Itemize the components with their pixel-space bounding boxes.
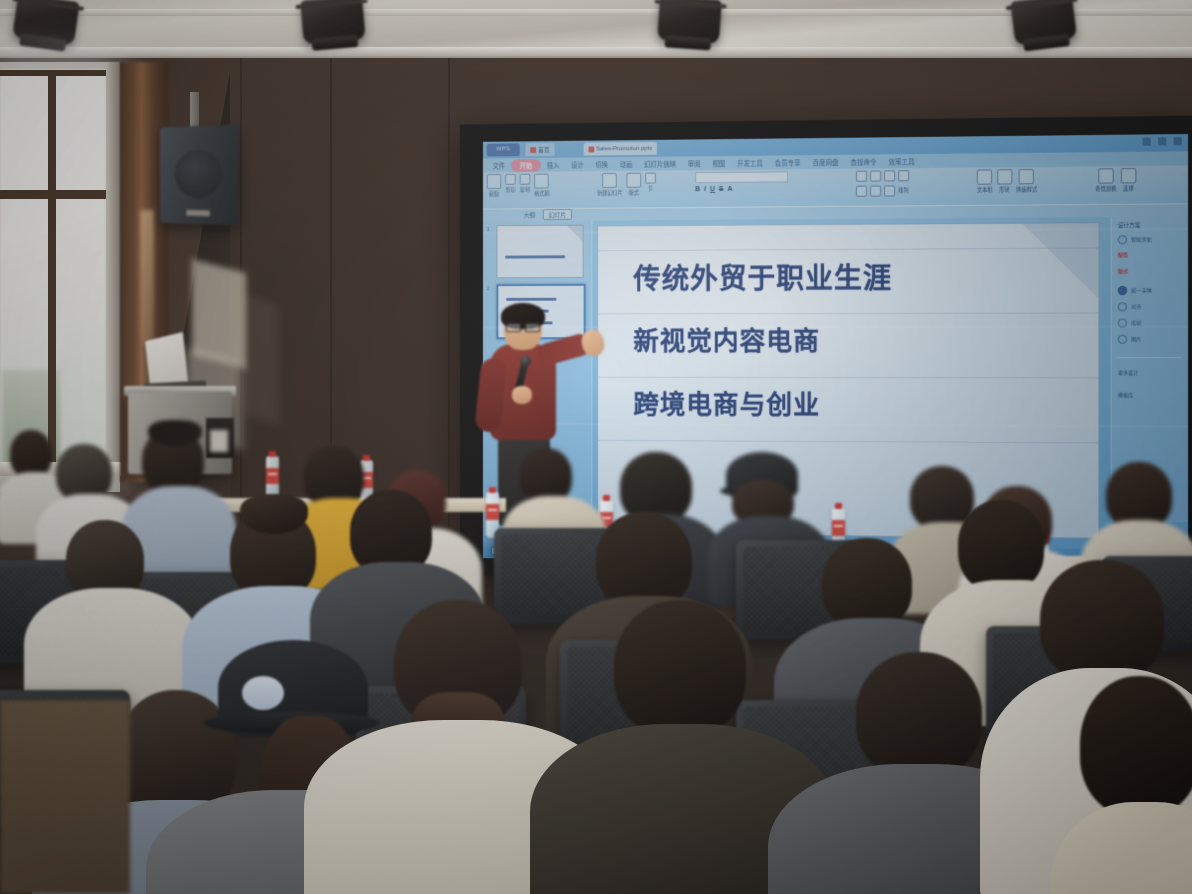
line-spacing-icon[interactable] [898, 170, 909, 181]
textbox-icon [977, 169, 992, 184]
wps-logo: WPS [487, 143, 520, 156]
thumbnail-number: 2 [487, 286, 490, 292]
slide-text-line-3[interactable]: 跨境电商与创业 [633, 385, 820, 422]
ribbon-tab-animation[interactable]: 动画 [614, 158, 638, 170]
slides-tab[interactable]: 幻灯片 [543, 209, 572, 220]
hair-bun [240, 494, 308, 534]
paste-icon [487, 174, 501, 189]
head [1080, 676, 1192, 816]
bold-button[interactable]: B [695, 186, 700, 193]
ribbon-tab-view[interactable]: 视图 [706, 157, 731, 169]
glasses-icon [506, 323, 540, 330]
ribbon-tab-slideshow[interactable]: 幻灯片放映 [638, 157, 682, 169]
scissors-icon [505, 174, 516, 185]
thumbnail-text-line [506, 298, 556, 301]
layout-icon [626, 173, 641, 188]
bullet-list-icon[interactable] [856, 186, 867, 197]
task-pane-label: 模板库 [1118, 392, 1133, 399]
speaker-cone [175, 150, 222, 199]
wps-tab-home[interactable]: 首页 [525, 143, 554, 156]
number-list-icon[interactable] [870, 186, 881, 197]
ceiling-rail [0, 47, 1192, 56]
slide-guide-line [598, 312, 1098, 314]
home-icon [530, 147, 536, 153]
ribbon-tab-review[interactable]: 审阅 [682, 157, 707, 169]
ribbon-button-label: 新建幻灯片 [597, 190, 622, 197]
task-pane-label: 图片 [1131, 336, 1141, 343]
ribbon-toolbar: 粘贴 剪切 复制 格式刷 [483, 166, 1188, 210]
task-pane-row[interactable]: 图片 [1118, 335, 1142, 344]
task-pane-label: 配色 [1118, 251, 1128, 258]
select-icon [1121, 168, 1136, 183]
wps-tab-label: 首页 [538, 145, 550, 154]
align-right-icon[interactable] [884, 170, 895, 181]
wps-tab-document[interactable]: Sales-Promotion.pptx [584, 142, 658, 156]
task-pane-label: 统一字体 [1131, 287, 1152, 294]
ribbon-tab-netdisk[interactable]: 百度网盘 [807, 156, 845, 168]
ribbon-button-label: 排列 [898, 187, 908, 194]
minimize-icon[interactable] [1143, 137, 1151, 145]
ribbon-tab-start[interactable]: 开始 [511, 158, 541, 171]
wps-tab-label: Sales-Promotion.pptx [596, 145, 652, 152]
indent-icon[interactable] [884, 185, 895, 196]
font-color-button[interactable]: A [727, 186, 732, 193]
task-pane-row[interactable]: 版式 [1118, 268, 1128, 275]
ribbon-tab-efficiency[interactable]: 效率工具 [883, 155, 921, 167]
task-pane-label: 版式 [1118, 268, 1128, 275]
font-format-row: B I U S A [695, 186, 732, 193]
ceiling-speaker-icon [160, 125, 238, 226]
ribbon-button-label: 选择 [1123, 185, 1134, 192]
hair-scrunchie [242, 676, 284, 710]
ribbon-button-label: 节 [648, 186, 653, 193]
ribbon-button-find-replace[interactable]: 查找替换 [1095, 168, 1116, 193]
section-icon [645, 173, 656, 184]
quick-style-icon [1019, 169, 1034, 184]
task-pane-row[interactable]: 智能美化 [1118, 235, 1152, 244]
ribbon-tab-design[interactable]: 设计 [565, 158, 589, 170]
ppt-file-icon [588, 146, 594, 152]
align-left-icon[interactable] [856, 171, 867, 182]
shape-icon [997, 169, 1012, 184]
task-pane-label: 智能美化 [1131, 236, 1152, 243]
ribbon-button-layout[interactable]: 版式 [626, 173, 641, 197]
sunlight-patch [244, 294, 278, 425]
head [822, 538, 912, 630]
ribbon-button-section[interactable]: 节 [645, 173, 656, 193]
floor [0, 700, 130, 894]
ribbon-button-label: 粘贴 [489, 191, 499, 198]
ribbon-tab-transition[interactable]: 切换 [589, 158, 613, 170]
strikethrough-button[interactable]: S [719, 186, 724, 193]
ribbon-button-label: 版式 [629, 190, 639, 197]
slide-text-line-1[interactable]: 传统外贸于职业生涯 [633, 257, 892, 298]
ribbon-button-select[interactable]: 选择 [1121, 168, 1136, 193]
slide-guide-line [598, 377, 1098, 379]
ribbon-button-format-painter[interactable]: 格式刷 [534, 174, 549, 198]
window-frame [106, 62, 120, 476]
ribbon-button-label: 格式刷 [534, 190, 549, 197]
ribbon-tab-file[interactable]: 文件 [487, 159, 511, 171]
lecture-hall-photo: WPS 首页 Sales-Promotion.pptx [0, 0, 1192, 894]
head [856, 652, 982, 778]
ribbon-button-textbox[interactable]: 文本框 [977, 169, 993, 193]
presenter-mic-hand [512, 386, 532, 404]
align-icon [1118, 302, 1127, 311]
picture-pane-icon [1118, 335, 1127, 344]
task-pane-label: 更多设计 [1118, 369, 1139, 376]
ribbon-button-label: 形状 [999, 186, 1010, 193]
ribbon-button-paste[interactable]: 粘贴 [487, 174, 501, 198]
ribbon-button-shape[interactable]: 形状 [997, 169, 1012, 193]
ribbon-button-label: 剪切 [505, 187, 515, 194]
ceiling-spotlight-icon [12, 0, 80, 46]
slide-corner-decoration [1023, 223, 1099, 298]
font-name-combobox[interactable] [695, 171, 788, 183]
window-mullion [48, 70, 56, 470]
ribbon-button-label: 复制 [520, 187, 530, 194]
ribbon-tab-developer[interactable]: 开发工具 [731, 157, 769, 169]
task-pane-row[interactable]: 统一字体 [1118, 286, 1152, 295]
close-icon[interactable] [1174, 137, 1182, 145]
ribbon-button-copy[interactable]: 复制 [520, 174, 531, 194]
torso [1050, 802, 1192, 894]
italic-button[interactable]: I [704, 186, 706, 193]
head [614, 600, 746, 736]
ribbon-tab-find-command[interactable]: 查找命令 [844, 155, 882, 167]
ribbon-tab-member[interactable]: 会员专享 [769, 156, 807, 168]
format-painter-icon [534, 174, 549, 189]
wps-logo-label: WPS [487, 143, 520, 156]
hair-bun [148, 420, 202, 446]
new-slide-icon [603, 173, 618, 188]
maximize-icon[interactable] [1158, 137, 1166, 145]
ribbon-button-cut[interactable]: 剪切 [505, 174, 516, 194]
copy-icon [520, 174, 531, 185]
ceiling-spotlight-icon [657, 0, 722, 44]
thumbnail-text-line [505, 255, 565, 258]
task-pane-label: 对齐 [1131, 303, 1141, 310]
slide-guide-line [598, 440, 1098, 443]
ribbon-button-label: 快速样式 [1016, 186, 1037, 193]
ribbon-button-label: 查找替换 [1095, 186, 1116, 193]
audience-member [560, 600, 800, 894]
task-pane-row[interactable]: 模板库 [1118, 392, 1133, 399]
wall-seam [448, 58, 450, 528]
smart-beautify-icon [1118, 235, 1127, 244]
outline-tab[interactable]: 大纲 [523, 210, 535, 219]
window-mullion [0, 70, 106, 76]
unify-font-icon [1118, 286, 1127, 295]
window-controls [1143, 137, 1182, 146]
underline-button[interactable]: U [710, 186, 715, 193]
speaker-badge [186, 210, 209, 217]
task-pane-row[interactable]: 配色 [1118, 251, 1128, 258]
ceiling-spotlight-icon [1010, 0, 1077, 45]
audience-member [1060, 676, 1192, 894]
ribbon-button-label: 文本框 [977, 187, 993, 194]
ceiling-spotlight-icon [300, 0, 366, 45]
task-pane-row[interactable]: 更多设计 [1118, 369, 1139, 376]
divider [1116, 357, 1182, 358]
find-replace-icon [1098, 168, 1113, 183]
head [1040, 560, 1164, 682]
ribbon-tab-insert[interactable]: 插入 [541, 159, 565, 171]
align-center-icon[interactable] [870, 170, 881, 181]
task-pane-row[interactable]: 对齐 [1118, 302, 1142, 311]
ribbon-button-quick-style[interactable]: 快速样式 [1016, 169, 1037, 193]
ribbon-button-new-slide[interactable]: 新建幻灯片 [597, 173, 622, 197]
speaker-mount [190, 92, 199, 130]
